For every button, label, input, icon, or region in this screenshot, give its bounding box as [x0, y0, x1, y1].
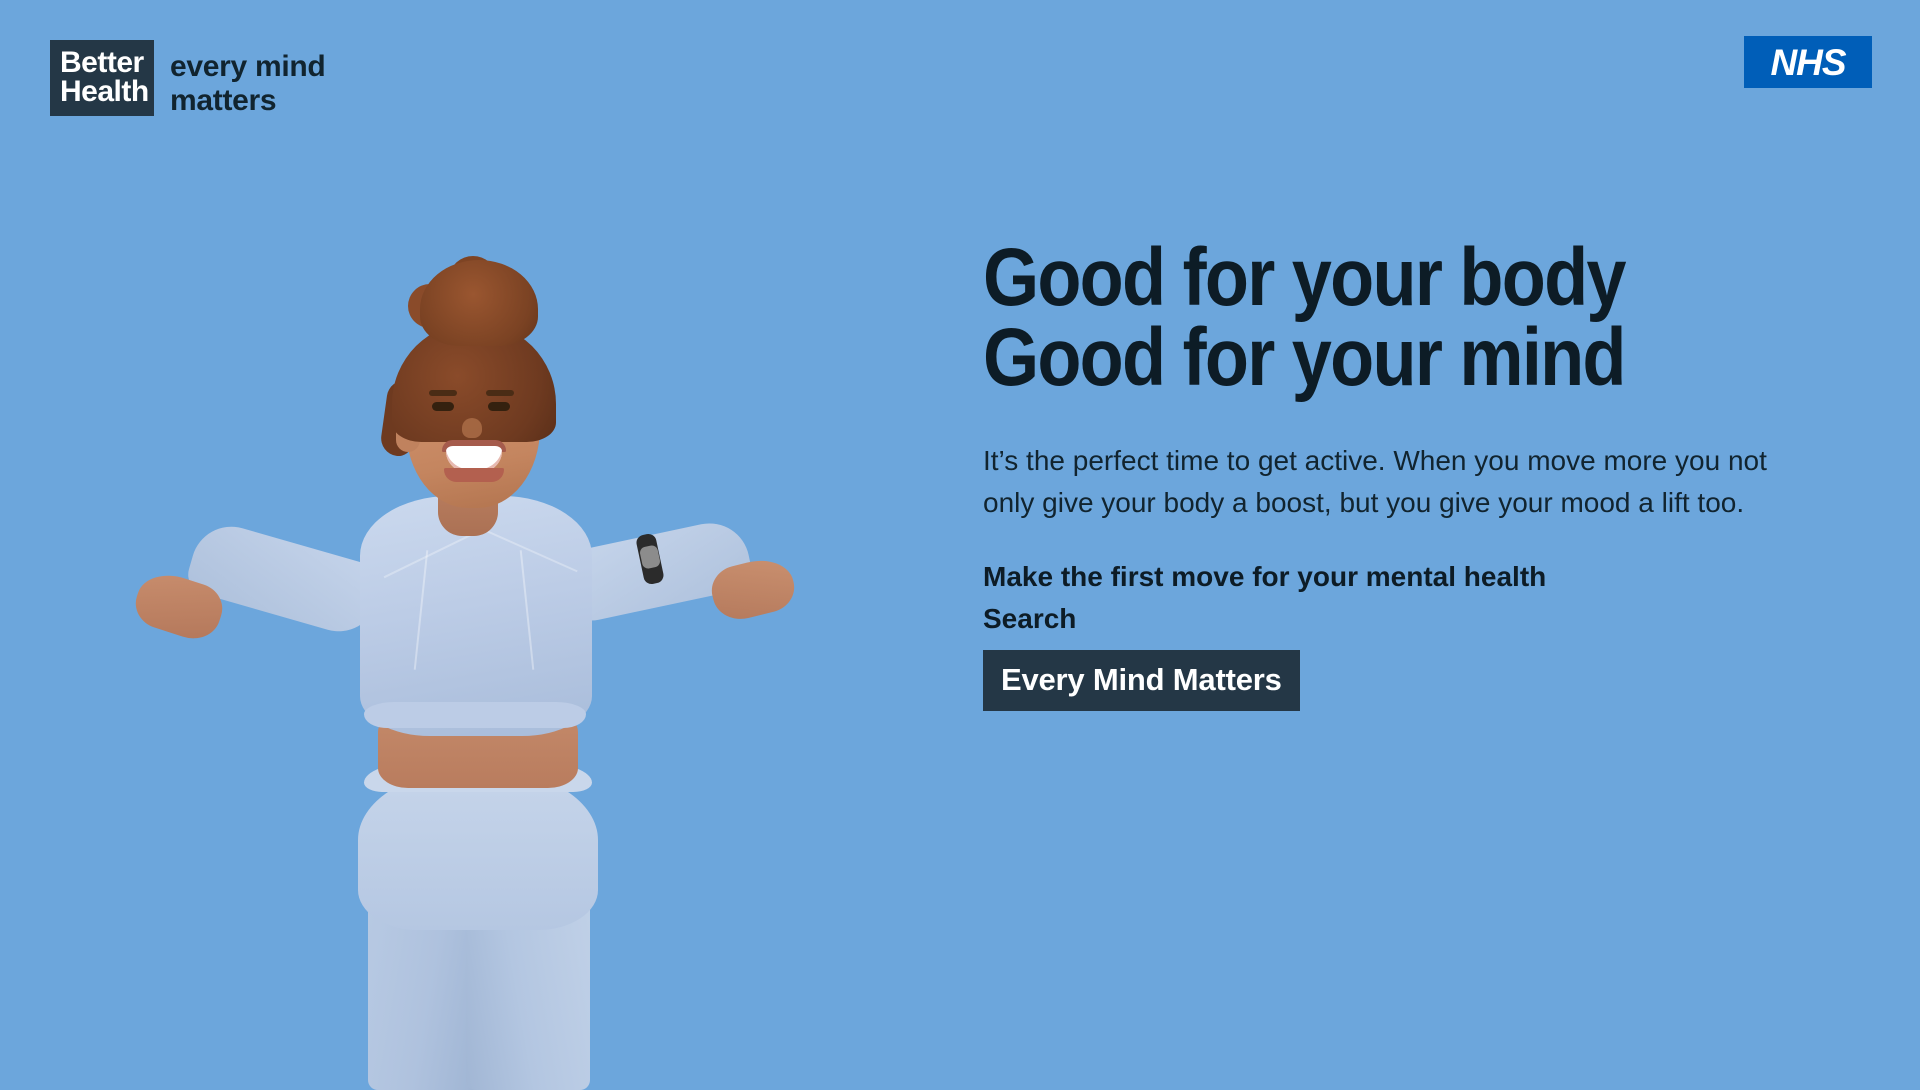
- better-health-logo[interactable]: Better Health every mind matters: [50, 40, 325, 118]
- body-copy: It’s the perfect time to get active. Whe…: [983, 440, 1773, 524]
- photo-eyebrow-right: [486, 390, 514, 396]
- photo-eyebrow-left: [429, 390, 457, 396]
- better-health-wordmark-block: Better Health: [50, 40, 154, 116]
- nhs-logo[interactable]: NHS: [1744, 36, 1872, 88]
- copy-block: Good for your body Good for your mind It…: [983, 238, 1783, 711]
- photo-lower-lip: [444, 468, 504, 482]
- photo-nose: [462, 418, 482, 438]
- campaign-poster: Better Health every mind matters NHS: [0, 0, 1920, 1080]
- tagline-line-1: every mind: [170, 50, 325, 84]
- photo-hair-bun: [420, 260, 538, 346]
- headline-line-1: Good for your body: [983, 238, 1687, 318]
- brand-line-health: Health: [60, 77, 144, 106]
- photo-crop-top-hem: [364, 702, 586, 728]
- cta-line-search: Search: [983, 598, 1783, 640]
- tagline-line-2: matters: [170, 84, 325, 118]
- photo-leggings: [358, 770, 598, 930]
- headline: Good for your body Good for your mind: [983, 238, 1687, 398]
- cta-block: Make the first move for your mental heal…: [983, 556, 1783, 711]
- every-mind-matters-search-button[interactable]: Every Mind Matters: [983, 650, 1300, 711]
- hero-photo-woman-arms-outstretched: [120, 250, 920, 1080]
- cta-line-1: Make the first move for your mental heal…: [983, 556, 1783, 598]
- photo-eye-left: [432, 402, 454, 411]
- brand-line-better: Better: [60, 48, 144, 77]
- nhs-logo-label: NHS: [1770, 44, 1845, 81]
- every-mind-matters-tagline: every mind matters: [170, 50, 325, 118]
- photo-eye-right: [488, 402, 510, 411]
- headline-line-2: Good for your mind: [983, 318, 1687, 398]
